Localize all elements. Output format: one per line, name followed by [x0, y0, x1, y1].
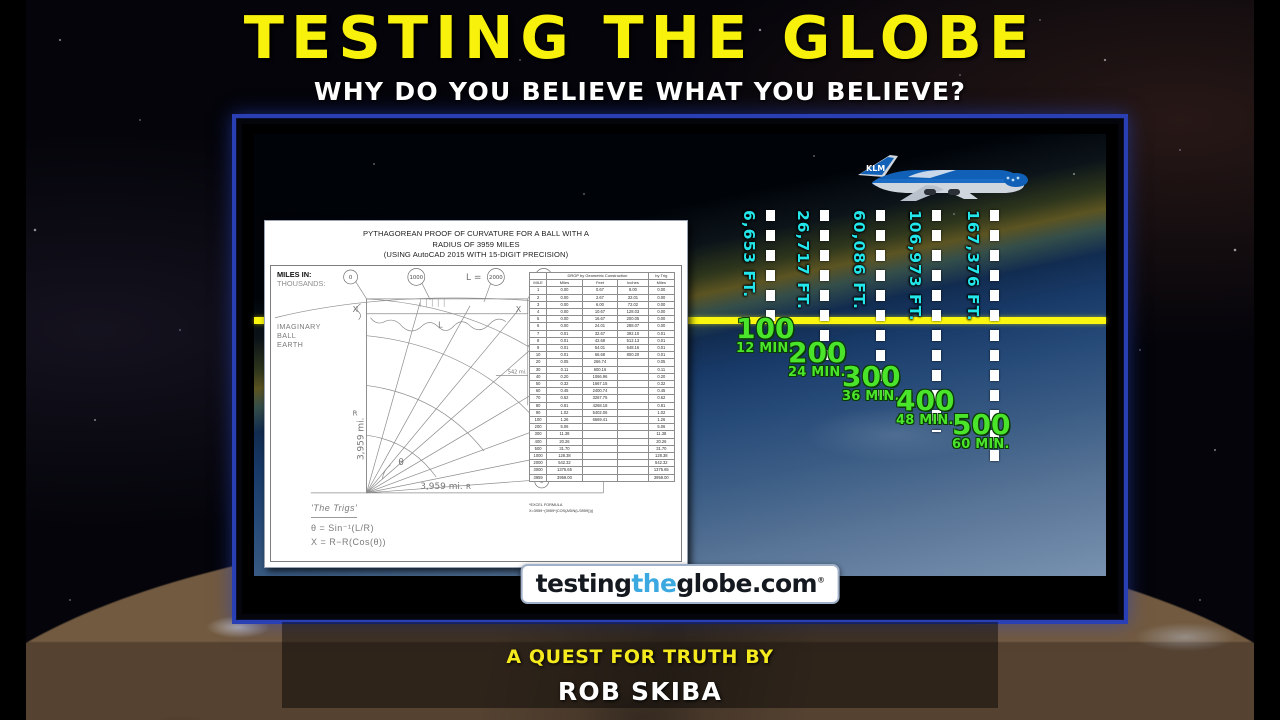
page-title: TESTING THE GLOBE [0, 8, 1280, 67]
mile-value-4: 400 [896, 388, 954, 414]
altitude-columns-group: 6,653 FT. 100 12 MIN. 26,717 FT. 200 24 … [242, 124, 1118, 614]
mile-marker-2: 200 24 MIN. [788, 340, 846, 379]
slide-header: TESTING THE GLOBE WHY DO YOU BELIEVE WHA… [0, 0, 1280, 112]
dashed-column-1 [766, 210, 775, 326]
content-panel-inner: KLM 6,653 FT. 100 12 MIN. 26,717 FT. [242, 124, 1118, 614]
logo-part-the: the [631, 569, 676, 598]
credits-block: A QUEST FOR TRUTH BY ROB SKIBA [0, 646, 1280, 706]
mile-value-1: 100 [736, 316, 794, 342]
credits-quest-line: A QUEST FOR TRUTH BY [0, 646, 1280, 668]
content-panel: KLM 6,653 FT. 100 12 MIN. 26,717 FT. [232, 114, 1128, 624]
site-logo[interactable]: testingtheglobe.com® [521, 564, 840, 604]
drop-distance-label-5: 167,376 FT. [964, 210, 982, 322]
mile-marker-1: 100 12 MIN. [736, 316, 794, 355]
mile-minutes-5: 60 MIN. [952, 438, 1010, 451]
drop-distance-label-3: 60,086 FT. [850, 210, 868, 310]
drop-distance-label-4: 106,973 FT. [906, 210, 924, 322]
presentation-slide: TESTING THE GLOBE WHY DO YOU BELIEVE WHA… [0, 0, 1280, 720]
mile-marker-5: 500 60 MIN. [952, 412, 1010, 451]
mile-minutes-4: 48 MIN. [896, 414, 954, 427]
credits-author: ROB SKIBA [0, 677, 1280, 706]
mile-minutes-2: 24 MIN. [788, 366, 846, 379]
drop-distance-label-2: 26,717 FT. [794, 210, 812, 310]
logo-text: testingtheglobe.com® [536, 569, 825, 598]
logo-part-testing: testing [536, 569, 632, 598]
drop-distance-label-1: 6,653 FT. [740, 210, 758, 298]
mile-value-2: 200 [788, 340, 846, 366]
mile-marker-3: 300 36 MIN. [842, 364, 900, 403]
registered-mark-icon: ® [817, 576, 824, 585]
logo-part-globe: globe.com [676, 569, 817, 598]
letterbox-bar-right [1254, 0, 1280, 720]
page-subtitle: WHY DO YOU BELIEVE WHAT YOU BELIEVE? [0, 77, 1280, 106]
mile-marker-4: 400 48 MIN. [896, 388, 954, 427]
mile-value-3: 300 [842, 364, 900, 390]
mile-minutes-1: 12 MIN. [736, 342, 794, 355]
mile-value-5: 500 [952, 412, 1010, 438]
mile-minutes-3: 36 MIN. [842, 390, 900, 403]
letterbox-bar-left [0, 0, 26, 720]
